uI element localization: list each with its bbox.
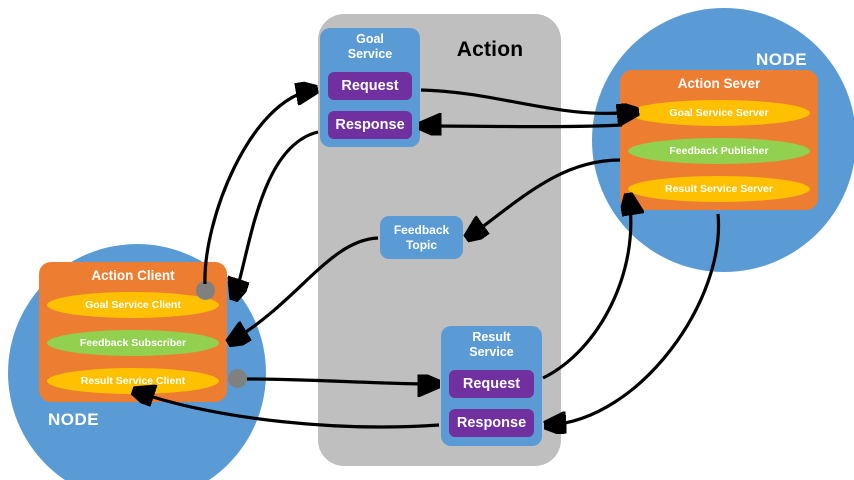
node-label-client: NODE (48, 410, 99, 430)
action-server-title: Action Sever (620, 76, 818, 91)
arrow-goal-response-to-goal-client (235, 132, 318, 296)
goal-service-title: Goal Service (320, 32, 420, 62)
action-client-title: Action Client (39, 268, 227, 283)
result-service-request[interactable]: Request (449, 370, 534, 398)
node-label-server: NODE (756, 50, 807, 70)
result-service-response[interactable]: Response (449, 409, 534, 437)
result-service-box: Result Service Request Response (441, 326, 542, 446)
connector-dot-goal-service-client (196, 281, 215, 300)
feedback-topic-title-line1: Feedback (394, 223, 449, 238)
pill-feedback-publisher[interactable]: Feedback Publisher (628, 138, 810, 164)
goal-service-box: Goal Service Request Response (320, 28, 420, 147)
action-server-box: Action Sever Goal Service Server Feedbac… (620, 70, 818, 210)
pill-result-service-server[interactable]: Result Service Server (628, 176, 810, 202)
goal-service-title-line1: Goal (356, 32, 384, 46)
action-group-title: Action (430, 38, 550, 62)
pill-feedback-subscriber[interactable]: Feedback Subscriber (47, 330, 219, 356)
goal-service-request[interactable]: Request (328, 72, 412, 100)
result-service-title-line1: Result (472, 330, 510, 344)
feedback-topic-title-line2: Topic (406, 238, 437, 253)
result-service-title-line2: Service (469, 345, 513, 359)
pill-goal-service-server[interactable]: Goal Service Server (628, 100, 810, 126)
result-service-title: Result Service (441, 330, 542, 360)
arrow-goal-client-to-goal-request (205, 90, 313, 284)
diagram-canvas: Action Action Client Goal Service Client… (0, 0, 854, 480)
feedback-topic-box[interactable]: Feedback Topic (380, 216, 463, 259)
goal-service-title-line2: Service (348, 47, 392, 61)
goal-service-response[interactable]: Response (328, 111, 412, 139)
connector-dot-result-service-client (228, 369, 247, 388)
pill-result-service-client[interactable]: Result Service Client (47, 368, 219, 394)
pill-goal-service-client[interactable]: Goal Service Client (47, 292, 219, 318)
